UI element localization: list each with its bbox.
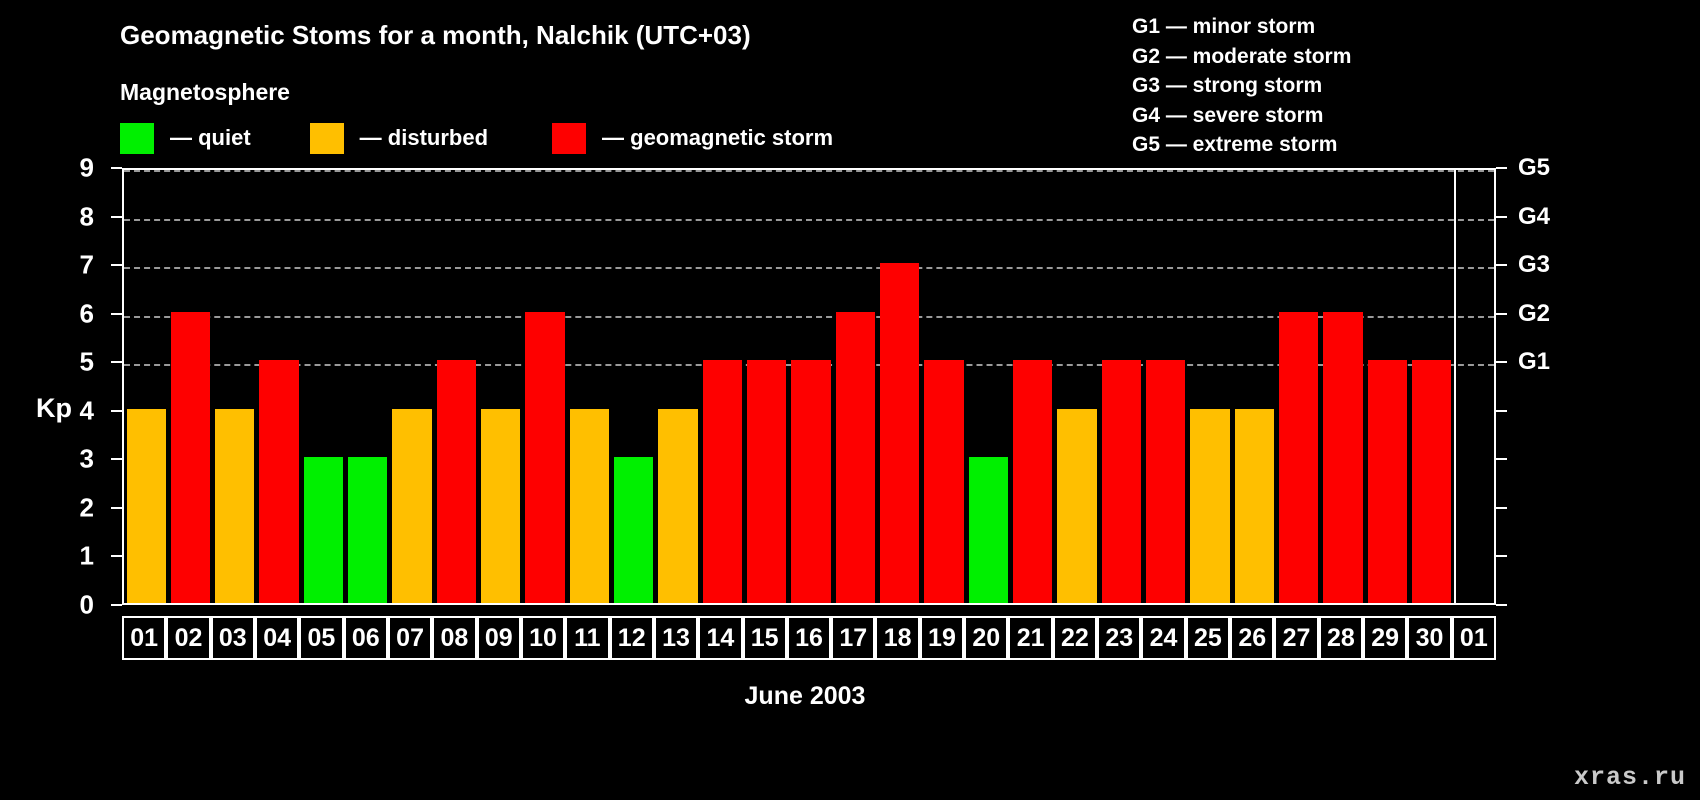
g-axis-tick-mark-kp-7 (1496, 264, 1507, 266)
y-tick-label-8: 8 (80, 201, 94, 232)
y-tick-mark-5 (111, 361, 122, 363)
bar-day-22[interactable] (1057, 409, 1096, 603)
y-tick-mark-9 (111, 167, 122, 169)
bar-day-04[interactable] (259, 360, 298, 603)
day-cell-17[interactable]: 18 (875, 616, 919, 660)
g-axis-tick-mark-kp-2 (1496, 507, 1507, 509)
day-cell-21[interactable]: 22 (1053, 616, 1097, 660)
y-tick-mark-1 (111, 555, 122, 557)
g-axis-tick-mark-kp-9 (1496, 167, 1507, 169)
day-cell-15[interactable]: 16 (787, 616, 831, 660)
legend-item-disturbed-label: — disturbed (360, 125, 488, 151)
g-scale-line-g5: G5 — extreme storm (1132, 130, 1351, 160)
bar-day-28[interactable] (1323, 312, 1362, 603)
bar-day-01[interactable] (127, 409, 166, 603)
bar-day-21[interactable] (1013, 360, 1052, 603)
day-cell-26[interactable]: 27 (1274, 616, 1318, 660)
bar-day-10[interactable] (525, 312, 564, 603)
g-axis-tick-mark-kp-1 (1496, 555, 1507, 557)
legend-item-geomagnetic-storm: — geomagnetic storm (552, 122, 833, 154)
day-cell-11[interactable]: 12 (610, 616, 654, 660)
day-cell-0[interactable]: 01 (122, 616, 166, 660)
g-scale-legend: G1 — minor storm G2 — moderate storm G3 … (1132, 12, 1351, 160)
bar-day-07[interactable] (392, 409, 431, 603)
y-tick-label-7: 7 (80, 250, 94, 281)
bar-day-29[interactable] (1368, 360, 1407, 603)
g-axis-tick-mark-kp-3 (1496, 458, 1507, 460)
y-tick-mark-4 (111, 410, 122, 412)
y-tick-mark-6 (111, 313, 122, 315)
g-tick-label-G5: G5 (1518, 154, 1550, 182)
y-tick-label-5: 5 (80, 347, 94, 378)
bar-day-05[interactable] (304, 457, 343, 603)
y-tick-mark-8 (111, 216, 122, 218)
bar-day-20[interactable] (969, 457, 1008, 603)
bar-day-08[interactable] (437, 360, 476, 603)
magnetosphere-legend: — quiet — disturbed — geomagnetic storm (120, 122, 833, 154)
plot-area (122, 168, 1496, 605)
bar-day-26[interactable] (1235, 409, 1274, 603)
day-cell-12[interactable]: 13 (654, 616, 698, 660)
day-cell-25[interactable]: 26 (1230, 616, 1274, 660)
day-cell-5[interactable]: 06 (344, 616, 388, 660)
bar-day-15[interactable] (747, 360, 786, 603)
y-tick-label-6: 6 (80, 298, 94, 329)
legend-item-disturbed: — disturbed (310, 122, 488, 154)
day-cell-18[interactable]: 19 (920, 616, 964, 660)
watermark: xras.ru (1574, 763, 1686, 792)
bar-day-09[interactable] (481, 409, 520, 603)
y-tick-label-1: 1 (80, 541, 94, 572)
bar-day-16[interactable] (791, 360, 830, 603)
bar-day-11[interactable] (570, 409, 609, 603)
y-tick-label-3: 3 (80, 444, 94, 475)
g-tick-label-G1: G1 (1518, 348, 1550, 376)
bar-day-03[interactable] (215, 409, 254, 603)
g-axis-tick-mark-kp-4 (1496, 410, 1507, 412)
day-cell-24[interactable]: 25 (1186, 616, 1230, 660)
y-tick-mark-0 (111, 604, 122, 606)
day-cell-7[interactable]: 08 (432, 616, 476, 660)
y-axis: 0123456789 (0, 168, 122, 605)
day-cell-1[interactable]: 02 (166, 616, 210, 660)
bar-day-30[interactable] (1412, 360, 1451, 603)
day-cell-13[interactable]: 14 (698, 616, 742, 660)
legend-heading: Magnetosphere (120, 79, 290, 106)
x-axis-day-cells: 0102030405060708091011121314151617181920… (122, 616, 1496, 660)
g-tick-label-G4: G4 (1518, 203, 1550, 231)
day-cell-28[interactable]: 29 (1363, 616, 1407, 660)
y-tick-mark-3 (111, 458, 122, 460)
bars-layer (124, 170, 1494, 603)
g-axis-tick-mark-kp-0 (1496, 604, 1507, 606)
disturbed-swatch-icon (310, 123, 344, 154)
day-cell-14[interactable]: 15 (743, 616, 787, 660)
y-tick-label-9: 9 (80, 153, 94, 184)
bar-day-14[interactable] (703, 360, 742, 603)
bar-day-27[interactable] (1279, 312, 1318, 603)
y-axis-title: Kp (36, 393, 72, 424)
g-scale-line-g2: G2 — moderate storm (1132, 42, 1351, 72)
day-cell-20[interactable]: 21 (1008, 616, 1052, 660)
day-cell-6[interactable]: 07 (388, 616, 432, 660)
y-tick-label-0: 0 (80, 590, 94, 621)
day-cell-19[interactable]: 20 (964, 616, 1008, 660)
bar-day-12[interactable] (614, 457, 653, 603)
y-tick-mark-2 (111, 507, 122, 509)
day-cell-8[interactable]: 09 (477, 616, 521, 660)
bar-day-25[interactable] (1190, 409, 1229, 603)
g-tick-label-G3: G3 (1518, 251, 1550, 279)
g-axis-tick-mark-kp-8 (1496, 216, 1507, 218)
g-axis: G1G2G3G4G5 (1496, 168, 1616, 605)
g-scale-line-g1: G1 — minor storm (1132, 12, 1351, 42)
legend-item-quiet: — quiet (120, 122, 251, 154)
bar-day-13[interactable] (658, 409, 697, 603)
day-cell-3[interactable]: 04 (255, 616, 299, 660)
bar-day-19[interactable] (924, 360, 963, 603)
day-cell-10[interactable]: 11 (565, 616, 609, 660)
y-tick-label-2: 2 (80, 492, 94, 523)
bar-day-06[interactable] (348, 457, 387, 603)
bar-day-02[interactable] (171, 312, 210, 603)
bar-day-24[interactable] (1146, 360, 1185, 603)
day-cell-4[interactable]: 05 (299, 616, 343, 660)
g-scale-line-g4: G4 — severe storm (1132, 101, 1351, 131)
day-cell-27[interactable]: 28 (1319, 616, 1363, 660)
x-axis-title: June 2003 (0, 682, 1610, 711)
quiet-swatch-icon (120, 123, 154, 154)
trailing-day-divider (1454, 170, 1456, 603)
day-cell-23[interactable]: 24 (1141, 616, 1185, 660)
legend-item-storm-label: — geomagnetic storm (602, 125, 833, 151)
bar-day-23[interactable] (1102, 360, 1141, 603)
y-tick-mark-7 (111, 264, 122, 266)
plot-inner (124, 170, 1494, 603)
y-tick-label-4: 4 (80, 395, 94, 426)
g-axis-tick-mark-kp-5 (1496, 361, 1507, 363)
g-scale-line-g3: G3 — strong storm (1132, 71, 1351, 101)
g-axis-tick-mark-kp-6 (1496, 313, 1507, 315)
day-cell-29[interactable]: 30 (1407, 616, 1451, 660)
storm-swatch-icon (552, 123, 586, 154)
day-cell-16[interactable]: 17 (831, 616, 875, 660)
day-cell-2[interactable]: 03 (211, 616, 255, 660)
bar-day-18[interactable] (880, 263, 919, 603)
day-cell-9[interactable]: 10 (521, 616, 565, 660)
bar-day-17[interactable] (836, 312, 875, 603)
legend-item-quiet-label: — quiet (170, 125, 251, 151)
day-cell-30[interactable]: 01 (1452, 616, 1496, 660)
g-tick-label-G2: G2 (1518, 300, 1550, 328)
page-title: Geomagnetic Stoms for a month, Nalchik (… (120, 20, 751, 51)
day-cell-22[interactable]: 23 (1097, 616, 1141, 660)
